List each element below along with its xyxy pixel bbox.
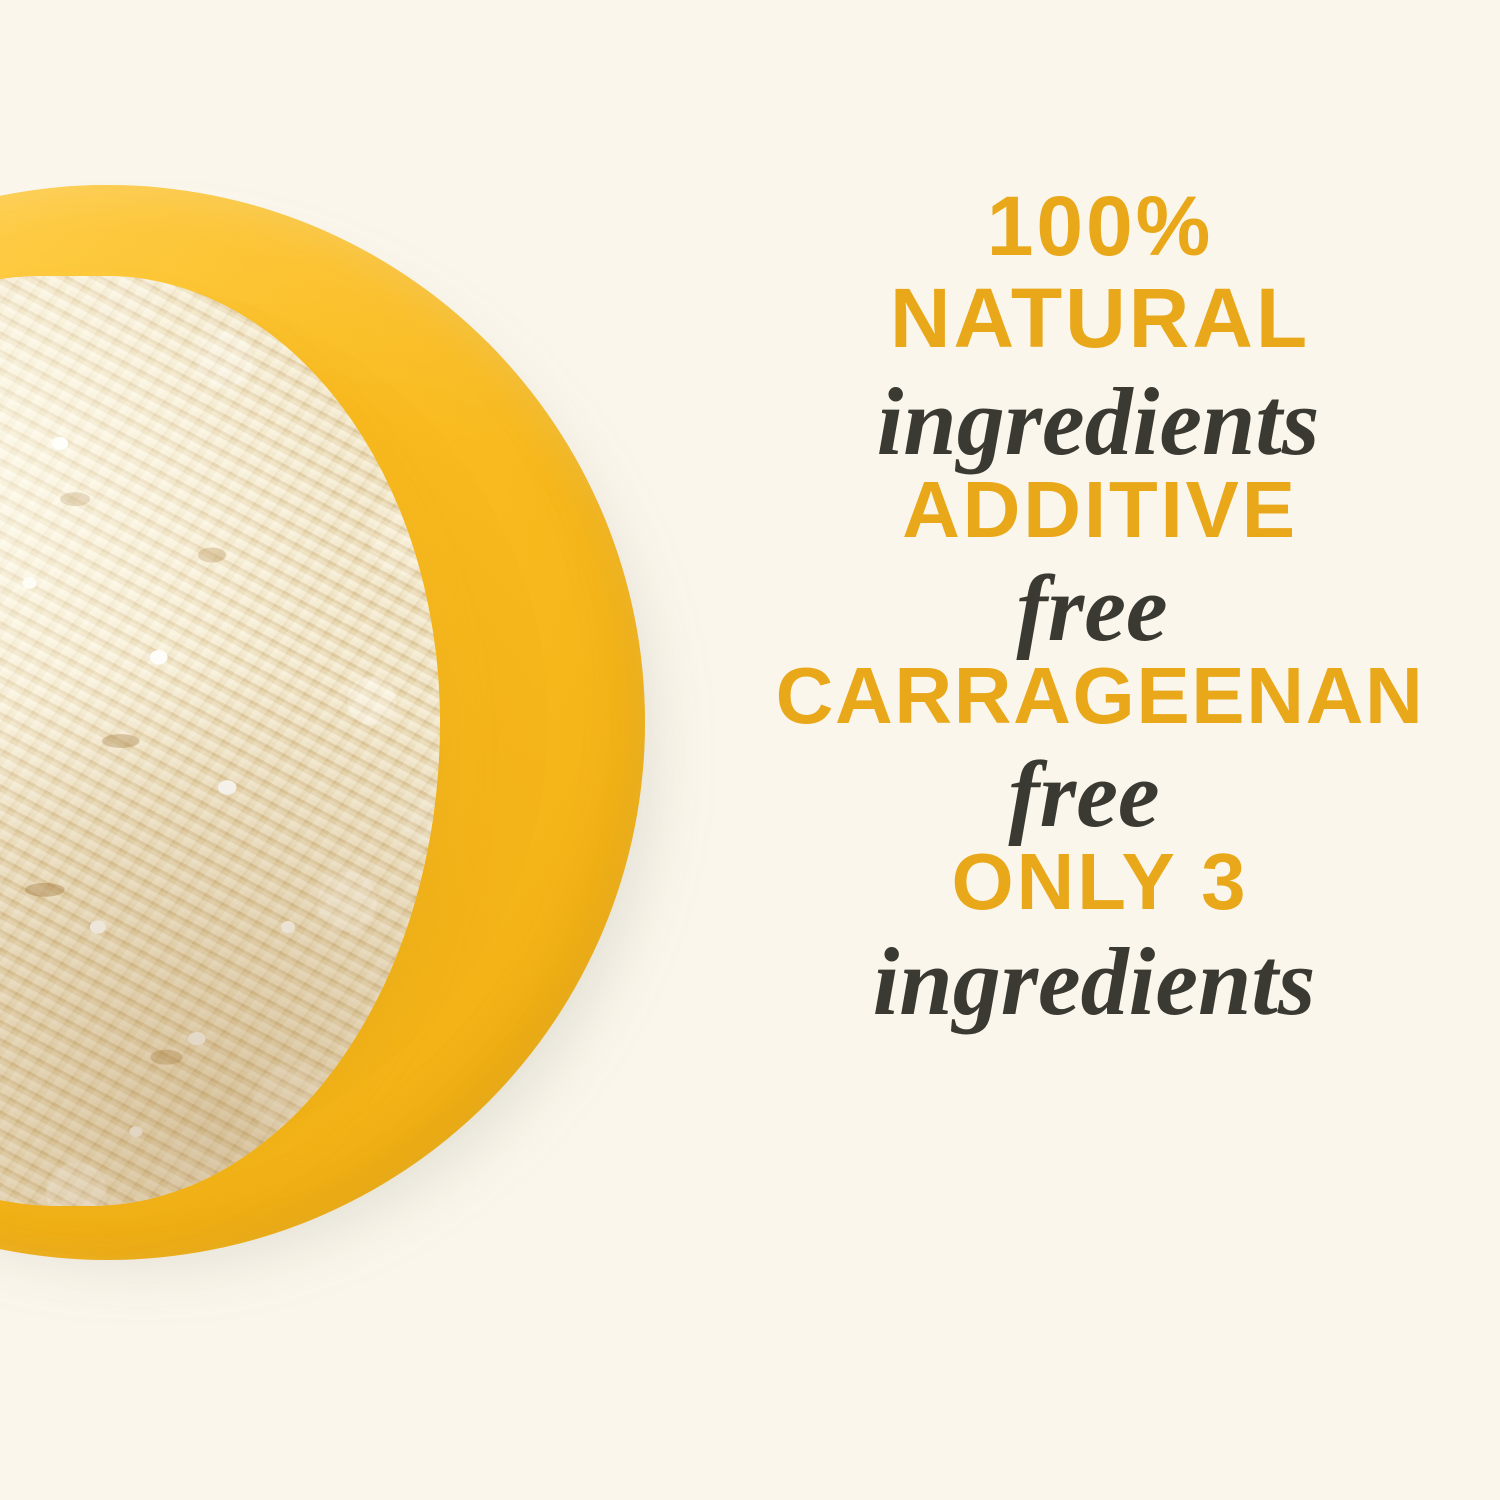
product-benefit-panel: 100% NATURAL ingredients ADDITIVE free C…: [0, 0, 1500, 1500]
claim-script-word: ingredients: [698, 374, 1498, 470]
claim-carrageenan-free: CARRAGEENAN free: [700, 656, 1500, 842]
claim-headline-line-1: CARRAGEENAN: [700, 656, 1500, 736]
claim-headline-line-1: ONLY 3: [700, 842, 1500, 922]
claim-script-word: free: [684, 748, 1484, 842]
claim-additive-free: ADDITIVE free: [700, 470, 1500, 656]
claim-natural-ingredients: 100% NATURAL ingredients: [700, 184, 1500, 470]
claim-only-3-ingredients: ONLY 3 ingredients: [700, 842, 1500, 1030]
claim-headline-line-1: 100%: [700, 184, 1500, 268]
claim-script-word: ingredients: [694, 934, 1494, 1030]
claims-list: 100% NATURAL ingredients ADDITIVE free C…: [700, 0, 1500, 1500]
food-photo: [0, 0, 760, 1500]
claim-headline-line-2: NATURAL: [700, 276, 1500, 360]
claim-script-word: free: [692, 562, 1492, 656]
claim-headline-line-1: ADDITIVE: [700, 470, 1500, 550]
